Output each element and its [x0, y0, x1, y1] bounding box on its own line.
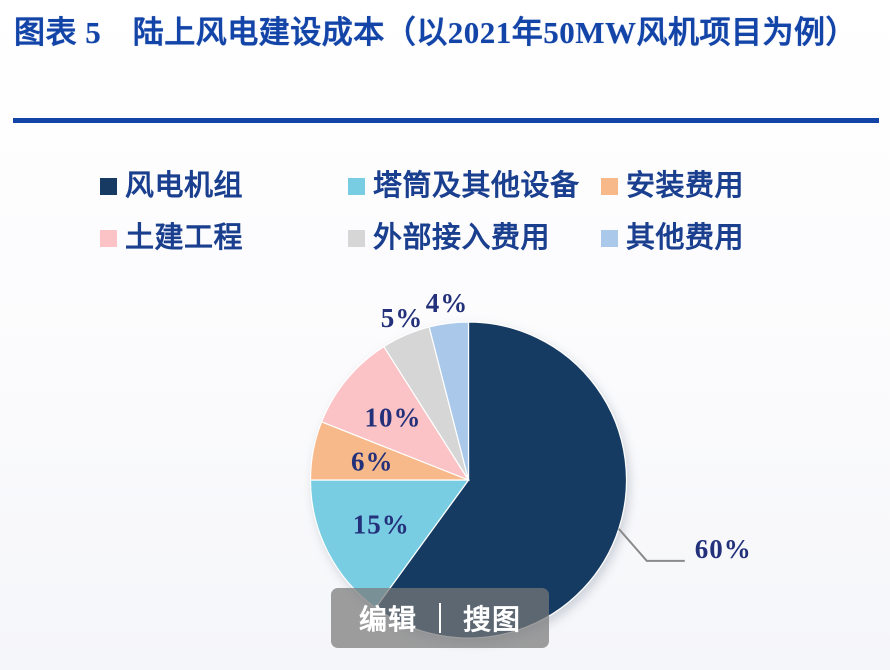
- watermark-edit-label[interactable]: 编辑: [359, 598, 417, 638]
- legend-label-wind-turbine: 风电机组: [125, 171, 243, 201]
- pie-leader-lines: [619, 529, 685, 561]
- legend-swatch-other: [601, 230, 618, 247]
- legend-swatch-civil-works: [100, 230, 117, 247]
- pie-leader-line: [619, 529, 685, 561]
- pie-slice[interactable]: [384, 327, 469, 480]
- pie-slice-value-label: 10%: [365, 403, 422, 433]
- legend-item-tower-equipment[interactable]: 塔筒及其他设备: [348, 171, 601, 201]
- watermark-overlay: 编辑 搜图: [331, 588, 549, 648]
- pie-slice-value-label: 15%: [353, 509, 410, 539]
- pie-slice-value-label: 4%: [426, 288, 469, 318]
- legend-label-grid-connection: 外部接入费用: [373, 223, 550, 253]
- pie-slice-value-label: 6%: [351, 447, 394, 477]
- legend-row: 土建工程 外部接入费用 其他费用: [100, 212, 800, 264]
- legend-swatch-installation: [601, 178, 618, 195]
- pie-value-labels: 60%15%6%10%5%4%: [351, 288, 752, 564]
- legend-label-tower-equipment: 塔筒及其他设备: [373, 171, 580, 201]
- legend-item-other[interactable]: 其他费用: [601, 223, 744, 253]
- legend-item-civil-works[interactable]: 土建工程: [100, 223, 348, 253]
- legend-label-civil-works: 土建工程: [125, 223, 243, 253]
- page-title: 图表 5 陆上风电建设成本（以2021年50MW风机项目为例）: [14, 10, 876, 56]
- pie-chart: 60%15%6%10%5%4%: [0, 0, 890, 670]
- title-block: 图表 5 陆上风电建设成本（以2021年50MW风机项目为例）: [0, 0, 890, 56]
- legend-item-installation[interactable]: 安装费用: [601, 171, 744, 201]
- pie-slice[interactable]: [322, 347, 469, 480]
- legend-swatch-grid-connection: [348, 230, 365, 247]
- legend-swatch-wind-turbine: [100, 178, 117, 195]
- pie-slice[interactable]: [429, 322, 468, 480]
- title-divider: [13, 118, 879, 123]
- chart-legend: 风电机组 塔筒及其他设备 安装费用 土建工程 外部接入费用 其他费用: [100, 160, 800, 264]
- watermark-search-label[interactable]: 搜图: [463, 598, 521, 638]
- legend-swatch-tower-equipment: [348, 178, 365, 195]
- legend-row: 风电机组 塔筒及其他设备 安装费用: [100, 160, 800, 212]
- pie-slice[interactable]: [311, 422, 469, 480]
- pie-slice-value-label: 60%: [695, 534, 752, 564]
- legend-label-installation: 安装费用: [626, 171, 744, 201]
- pie-chart-svg: 60%15%6%10%5%4%: [0, 0, 890, 670]
- pie-slice-value-label: 5%: [381, 303, 424, 333]
- legend-item-grid-connection[interactable]: 外部接入费用: [348, 223, 601, 253]
- legend-item-wind-turbine[interactable]: 风电机组: [100, 171, 348, 201]
- watermark-separator: [439, 603, 441, 633]
- legend-label-other: 其他费用: [626, 223, 744, 253]
- figure-container: 图表 5 陆上风电建设成本（以2021年50MW风机项目为例） 风电机组 塔筒及…: [0, 0, 890, 670]
